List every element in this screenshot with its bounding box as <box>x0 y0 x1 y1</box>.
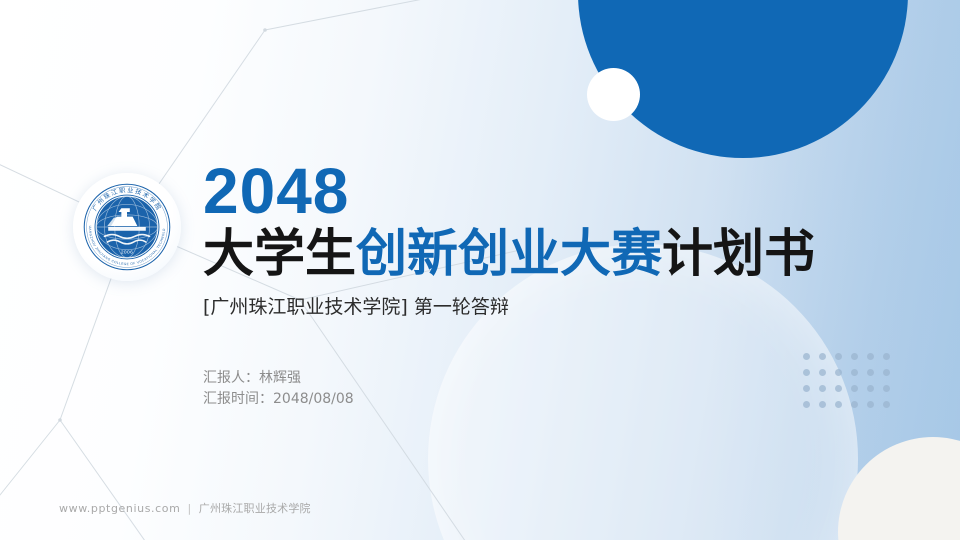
headline-segment-highlight: 创新创业大赛 <box>356 225 662 284</box>
svg-text:2006: 2006 <box>121 249 133 255</box>
presenter-meta: 汇报人：林辉强 汇报时间：2048/08/08 <box>203 368 354 410</box>
footer-website: www.pptgenius.com <box>59 502 180 515</box>
headline-segment-1: 大学生 <box>203 225 356 284</box>
slide-subtitle: [广州珠江职业技术学院] 第一轮答辩 <box>203 294 843 320</box>
presenter-name: 汇报人：林辉强 <box>203 368 354 389</box>
university-emblem-icon: 2006 广州珠江职业技术学院 GUANGZHOU ZHUJIANG COLLE… <box>80 180 174 274</box>
title-block: 2048 大学生创新创业大赛计划书 [广州珠江职业技术学院] 第一轮答辩 <box>203 160 843 320</box>
year-number: 2048 <box>203 160 843 222</box>
university-logo: 2006 广州珠江职业技术学院 GUANGZHOU ZHUJIANG COLLE… <box>73 173 181 281</box>
headline-segment-2: 计划书 <box>662 225 815 284</box>
presentation-date: 汇报时间：2048/08/08 <box>203 389 354 410</box>
footer-separator: | <box>187 502 191 515</box>
presentation-slide: 2006 广州珠江职业技术学院 GUANGZHOU ZHUJIANG COLLE… <box>0 0 960 540</box>
footer-organization: 广州珠江职业技术学院 <box>199 500 311 516</box>
slide-footer: www.pptgenius.com | 广州珠江职业技术学院 <box>59 500 311 516</box>
slide-headline: 大学生创新创业大赛计划书 <box>203 226 843 283</box>
